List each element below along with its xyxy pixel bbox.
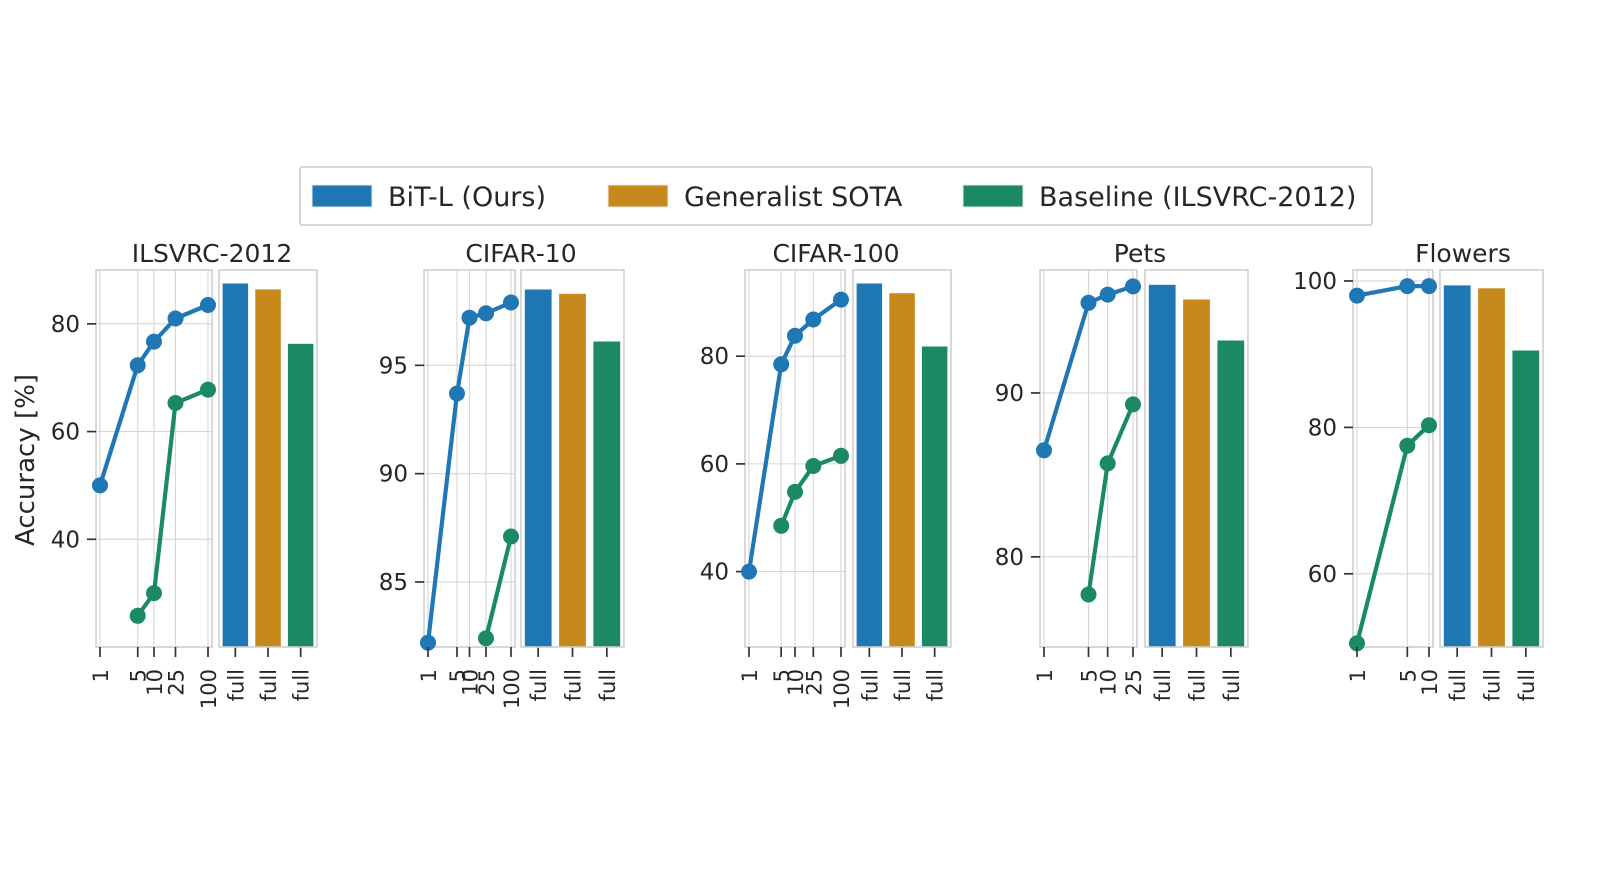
x-tick-label: 25 <box>164 669 188 696</box>
y-tick-label: 80 <box>51 312 80 338</box>
legend-swatch-bit_l <box>312 185 372 207</box>
subplot-title: CIFAR-10 <box>465 239 576 268</box>
bar-x-tick-label: full <box>891 669 915 701</box>
series-marker <box>1126 279 1141 294</box>
bar <box>525 290 552 648</box>
y-tick-label: 80 <box>995 545 1024 571</box>
series-marker <box>774 357 789 372</box>
bar-x-tick-label: full <box>562 669 586 701</box>
bar-x-tick-label: full <box>1186 669 1210 701</box>
subplot-cifar-10: CIFAR-10859095151025100fullfullfull <box>379 239 624 709</box>
x-tick-label: 1 <box>738 669 762 682</box>
y-tick-label: 40 <box>700 560 729 586</box>
figure-canvas: BiT-L (Ours)Generalist SOTABaseline (ILS… <box>0 0 1600 891</box>
x-tick-label: 10 <box>143 669 167 696</box>
bar-x-tick-label: full <box>1220 669 1244 701</box>
y-tick-label: 90 <box>379 462 408 488</box>
legend-swatch-generalist_sota <box>608 185 668 207</box>
bar <box>223 284 249 648</box>
subplot-title: Flowers <box>1415 239 1511 268</box>
x-tick-label: 1 <box>417 669 441 682</box>
subplot-cifar-100: CIFAR-100406080151025100fullfullfull <box>700 239 951 709</box>
series-marker <box>130 358 145 373</box>
series-marker <box>834 292 849 307</box>
y-tick-label: 40 <box>51 527 80 553</box>
y-tick-label: 95 <box>379 353 408 379</box>
line-axes-bg <box>1353 270 1433 647</box>
series-marker <box>806 459 821 474</box>
legend-label-generalist_sota: Generalist SOTA <box>684 182 903 213</box>
legend-label-bit_l: BiT-L (Ours) <box>388 182 546 213</box>
x-tick-label: 10 <box>1418 669 1442 696</box>
y-axis-label: Accuracy [%] <box>11 374 41 546</box>
legend-swatch-baseline_ilsvrc <box>963 185 1023 207</box>
series-marker <box>168 311 183 326</box>
x-tick-label: 1 <box>1033 669 1057 682</box>
series-marker <box>504 295 519 310</box>
bar-x-tick-label: full <box>224 669 248 701</box>
series-marker <box>479 306 494 321</box>
x-tick-label: 100 <box>500 669 524 709</box>
x-tick-label: 5 <box>1396 669 1420 682</box>
subplot-ilsvrc-2012: ILSVRC-2012406080151025100fullfullfull <box>51 239 317 709</box>
subplot-flowers: Flowers60801001510fullfullfull <box>1293 239 1543 701</box>
y-tick-label: 60 <box>700 452 729 478</box>
series-marker <box>1100 456 1115 471</box>
x-tick-label: 100 <box>830 669 854 709</box>
y-tick-label: 100 <box>1293 269 1337 295</box>
series-marker <box>450 386 465 401</box>
series-marker <box>1422 418 1437 433</box>
y-tick-label: 80 <box>700 344 729 370</box>
x-tick-label: 1 <box>89 669 113 682</box>
bar <box>593 342 620 648</box>
bar <box>288 344 314 647</box>
bar-x-tick-label: full <box>1481 669 1505 701</box>
series-marker <box>201 298 216 313</box>
series-marker <box>774 518 789 533</box>
series-marker <box>1081 587 1096 602</box>
bar-x-tick-label: full <box>257 669 281 701</box>
y-tick-label: 85 <box>379 570 408 596</box>
x-tick-label: 25 <box>802 669 826 696</box>
x-tick-label: 25 <box>475 669 499 696</box>
x-tick-label: 1 <box>1346 669 1370 682</box>
subplot-title: ILSVRC-2012 <box>132 239 293 268</box>
legend-label-baseline_ilsvrc: Baseline (ILSVRC-2012) <box>1039 182 1356 213</box>
series-marker <box>806 312 821 327</box>
series-marker <box>834 448 849 463</box>
series-marker <box>1422 279 1437 294</box>
bar <box>922 347 948 648</box>
chart-legend: BiT-L (Ours)Generalist SOTABaseline (ILS… <box>300 167 1372 225</box>
bar <box>559 294 586 647</box>
bar-x-tick-label: full <box>290 669 314 701</box>
y-tick-label: 60 <box>1308 562 1337 588</box>
x-tick-label: 100 <box>197 669 221 709</box>
series-marker <box>93 478 108 493</box>
series-marker <box>788 484 803 499</box>
series-marker <box>130 608 145 623</box>
y-tick-label: 60 <box>51 420 80 446</box>
x-tick-label: 25 <box>1122 669 1146 696</box>
series-marker <box>788 328 803 343</box>
bar-x-tick-label: full <box>1151 669 1175 701</box>
subplot-title: Pets <box>1114 239 1166 268</box>
series-marker <box>147 334 162 349</box>
series-marker <box>1400 438 1415 453</box>
bar <box>255 289 280 647</box>
series-marker <box>1350 288 1365 303</box>
series-marker <box>201 382 216 397</box>
x-tick-label: 10 <box>1097 669 1121 696</box>
bar-x-tick-label: full <box>1515 669 1539 701</box>
bar-x-tick-label: full <box>596 669 620 701</box>
series-marker <box>504 529 519 544</box>
series-marker <box>1100 287 1115 302</box>
bar <box>1478 288 1505 647</box>
series-marker <box>742 564 757 579</box>
series-marker <box>462 310 477 325</box>
subplot-title: CIFAR-100 <box>772 239 899 268</box>
bar-x-tick-label: full <box>924 669 948 701</box>
series-marker <box>1037 443 1052 458</box>
bar-x-tick-label: full <box>527 669 551 701</box>
series-marker <box>1400 279 1415 294</box>
series-marker <box>479 631 494 646</box>
y-tick-label: 90 <box>995 381 1024 407</box>
bar <box>1217 341 1244 648</box>
bar <box>1149 285 1176 647</box>
bar <box>857 284 883 648</box>
series-marker <box>147 586 162 601</box>
series-marker <box>1081 295 1096 310</box>
bar-x-tick-label: full <box>1446 669 1470 701</box>
bar <box>1444 285 1471 647</box>
bar-x-tick-label: full <box>858 669 882 701</box>
bar <box>1512 351 1539 648</box>
series-marker <box>168 396 183 411</box>
series-marker <box>1126 397 1141 412</box>
subplot-pets: Pets8090151025fullfullfull <box>995 239 1248 701</box>
bar <box>889 293 915 647</box>
chart-svg: BiT-L (Ours)Generalist SOTABaseline (ILS… <box>0 0 1600 891</box>
bar <box>1183 300 1210 648</box>
y-tick-label: 80 <box>1308 415 1337 441</box>
